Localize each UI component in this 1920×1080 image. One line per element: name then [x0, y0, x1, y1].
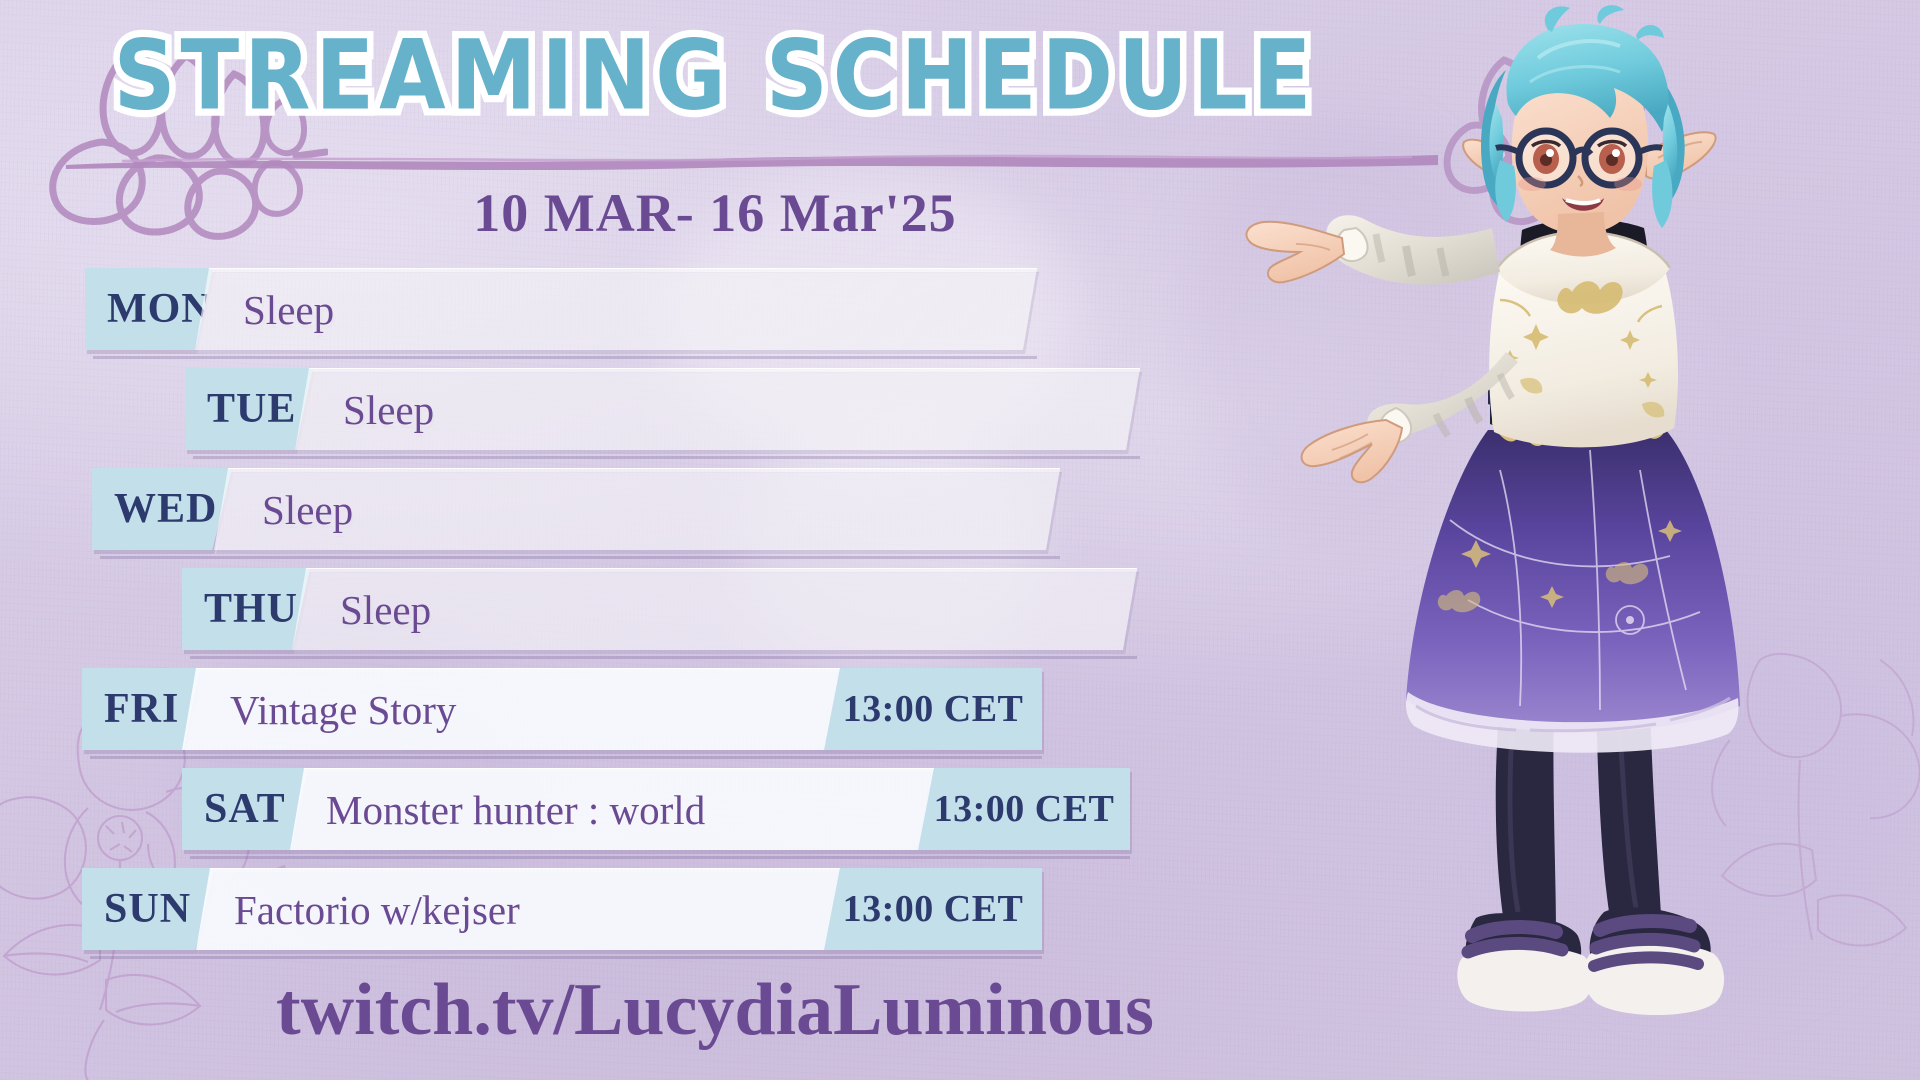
schedule-bar: FRI Vintage Story 13:00 CET — [82, 668, 1042, 750]
activity-label: Sleep — [340, 586, 431, 634]
bar-shadow — [93, 356, 1037, 359]
platform-sandals — [1457, 907, 1724, 1015]
day-label: WED — [114, 485, 217, 533]
bar-shadow — [90, 756, 1042, 759]
page-title: STREAMING SCHEDULE — [114, 28, 1317, 126]
time-label: 13:00 CET — [843, 687, 1024, 731]
arm-raised — [1246, 215, 1500, 285]
time-chip-sun: 13:00 CET — [824, 868, 1042, 950]
bar-shadow — [100, 556, 1060, 559]
activity-label: Sleep — [262, 486, 353, 534]
bar-shadow — [190, 856, 1130, 859]
schedule-row-tue[interactable]: TUE Sleep — [185, 368, 1160, 454]
activity-body: Sleep — [295, 368, 1140, 450]
day-chip-fri: FRI — [82, 668, 200, 750]
day-chip-wed: WED — [92, 468, 232, 550]
activity-body: Factorio w/kejser — [196, 868, 840, 950]
time-chip-sat: 13:00 CET — [918, 768, 1130, 850]
schedule-list: MON Sleep TUE Sleep WED Sleep — [0, 268, 1160, 968]
schedule-row-fri[interactable]: FRI Vintage Story 13:00 CET — [82, 668, 1160, 754]
activity-label: Monster hunter : world — [326, 786, 705, 834]
schedule-row-wed[interactable]: WED Sleep — [92, 468, 1160, 554]
activity-label: Vintage Story — [230, 686, 456, 734]
head — [1463, 5, 1715, 256]
bar-shadow — [190, 656, 1137, 659]
day-chip-sun: SUN — [82, 868, 214, 950]
activity-body: Sleep — [292, 568, 1137, 650]
bar-shadow — [90, 956, 1042, 959]
schedule-bar: WED Sleep — [92, 468, 1060, 550]
time-label: 13:00 CET — [843, 887, 1024, 931]
schedule-row-sat[interactable]: SAT Monster hunter : world 13:00 CET — [182, 768, 1160, 854]
day-chip-mon: MON — [85, 268, 213, 350]
time-label: 13:00 CET — [934, 787, 1115, 831]
day-chip-thu: THU — [182, 568, 310, 650]
schedule-bar: THU Sleep — [182, 568, 1137, 650]
schedule-row-mon[interactable]: MON Sleep — [85, 268, 1160, 354]
day-label: THU — [204, 585, 298, 633]
time-chip-fri: 13:00 CET — [824, 668, 1042, 750]
activity-label: Sleep — [243, 286, 334, 334]
day-label: TUE — [207, 385, 296, 433]
activity-body: Sleep — [195, 268, 1037, 350]
day-chip-tue: TUE — [185, 368, 313, 450]
schedule-bar: SAT Monster hunter : world 13:00 CET — [182, 768, 1130, 850]
activity-label: Sleep — [343, 386, 434, 434]
schedule-bar: SUN Factorio w/kejser 13:00 CET — [82, 868, 1042, 950]
activity-label: Factorio w/kejser — [234, 886, 520, 934]
activity-body: Monster hunter : world — [290, 768, 934, 850]
day-label: SUN — [104, 885, 191, 933]
schedule-row-thu[interactable]: THU Sleep — [182, 568, 1160, 654]
activity-body: Vintage Story — [182, 668, 840, 750]
day-chip-sat: SAT — [182, 768, 308, 850]
bar-shadow — [193, 456, 1140, 459]
activity-body: Sleep — [214, 468, 1060, 550]
day-label: MON — [107, 285, 213, 333]
character-illustration — [1200, 0, 1920, 1080]
day-label: FRI — [104, 685, 179, 733]
schedule-row-sun[interactable]: SUN Factorio w/kejser 13:00 CET — [82, 868, 1160, 954]
day-label: SAT — [204, 785, 286, 833]
schedule-bar: TUE Sleep — [185, 368, 1140, 450]
schedule-bar: MON Sleep — [85, 268, 1037, 350]
